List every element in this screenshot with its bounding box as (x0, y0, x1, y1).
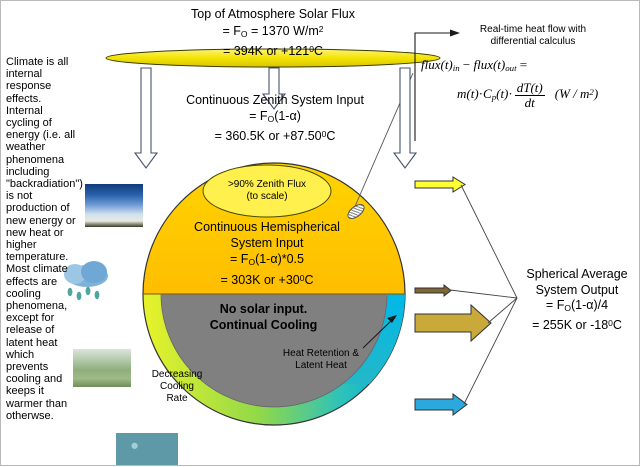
zenith-flux-label: >90% Zenith Flux (to scale) (206, 179, 328, 203)
climate-internal-response-note: Climate is all internal response effects… (6, 56, 78, 422)
calculus-caption: Real-time heat flow with differential ca… (448, 24, 618, 48)
forest-photo (73, 349, 131, 387)
spherical-average-system-output: Spherical Average System Output = FO(1-α… (513, 267, 640, 334)
output-line2: System Output (513, 283, 640, 299)
decreasing-cooling-rate-label: Decreasing Cooling Rate (141, 369, 213, 405)
output-line3: = FO(1-α)/4 (513, 298, 640, 316)
continuous-hemispherical-system-input: Continuous Hemispherical System Input = … (151, 219, 383, 288)
zenith-line3: = 360.5K or +87.500C (156, 127, 394, 145)
hemi-line1: Continuous Hemispherical (151, 219, 383, 235)
output-line1: Spherical Average (513, 267, 640, 283)
no-solar-l1: No solar input. (176, 301, 351, 317)
diagram-canvas: Top of Atmosphere Solar Flux = FO = 1370… (0, 0, 640, 466)
output-arrow-blue (415, 394, 467, 415)
left-note-text: Climate is all internal response effects… (6, 56, 83, 422)
equation-rhs: m(t)·Cp(t)·dT(t)dt(W / m2) (421, 81, 639, 109)
water-droplets-photo (116, 433, 178, 465)
cooling-l1: Decreasing (141, 369, 213, 381)
output-arrow-brown-thin (415, 285, 451, 296)
toa-line1: Top of Atmosphere Solar Flux (137, 7, 409, 22)
calculus-caption-l2: differential calculus (448, 36, 618, 48)
toa-line3: = 394K or +1210C (137, 42, 409, 59)
heat-retention-l2: Latent Heat (275, 360, 367, 372)
continuous-zenith-system-input: Continuous Zenith System Input = FO(1-α)… (156, 93, 394, 145)
zenith-line1: Continuous Zenith System Input (156, 93, 394, 109)
output-line4: = 255K or -180C (513, 316, 640, 334)
heat-flow-equation: flux(t)in − flux(t)out = m(t)·Cp(t)·dT(t… (421, 57, 639, 109)
output-arrow-gold-thick (415, 305, 491, 341)
heat-retention-l1: Heat Retention & (275, 348, 367, 360)
hemi-line2: System Input (151, 235, 383, 251)
cooling-l3: Rate (141, 393, 213, 405)
dT-dt-fraction: dT(t)dt (515, 81, 545, 109)
no-solar-input-label: No solar input. Continual Cooling (176, 301, 351, 333)
cooling-l2: Cooling (141, 381, 213, 393)
equation-lhs: flux(t)in − flux(t)out = (421, 57, 639, 73)
hemi-line3: = FO(1-α)*0.5 (151, 251, 383, 270)
no-solar-l2: Continual Cooling (176, 317, 351, 333)
zenith-flux-l1: >90% Zenith Flux (206, 179, 328, 191)
hemi-line4: = 303K or +300C (151, 270, 383, 288)
calculus-caption-l1: Real-time heat flow with (448, 24, 618, 36)
zenith-flux-l2: (to scale) (206, 191, 328, 203)
zenith-line2: = FO(1-α) (156, 109, 394, 127)
heat-retention-label: Heat Retention & Latent Heat (275, 348, 367, 372)
output-convergence-lines (450, 185, 517, 404)
output-arrow-yellow (415, 177, 465, 192)
toa-line2: = FO = 1370 W/m2 (137, 22, 409, 42)
system-output-arrows (415, 177, 491, 415)
sky-clouds-photo (85, 184, 143, 227)
top-of-atmosphere-title: Top of Atmosphere Solar Flux = FO = 1370… (137, 7, 409, 59)
